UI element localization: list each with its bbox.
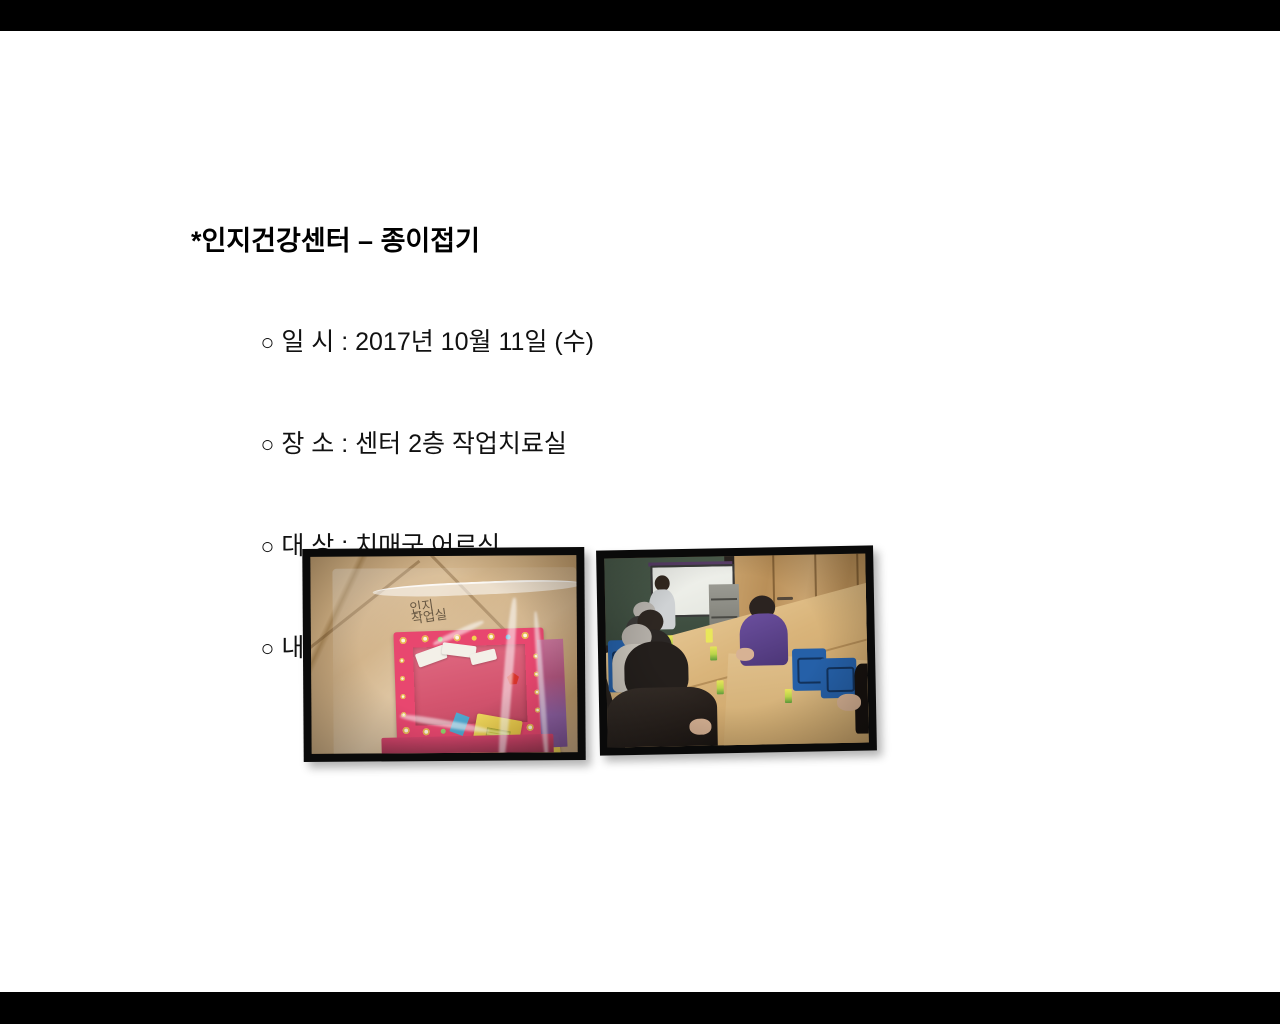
- slide-canvas: *인지건강센터 – 종이접기 ○ 일 시 : 2017년 10월 11일 (수)…: [0, 31, 1280, 992]
- glue-stick: [717, 680, 724, 694]
- stacked-frames-below: [381, 734, 554, 754]
- slide-root: *인지건강센터 – 종이접기 ○ 일 시 : 2017년 10월 11일 (수)…: [0, 0, 1280, 1024]
- page-title: *인지건강센터 – 종이접기: [191, 226, 1011, 257]
- therapy-room-session-photo: [596, 545, 877, 755]
- flower-dot: [527, 724, 534, 731]
- flower-dot: [400, 694, 405, 699]
- flower-dot: [400, 676, 405, 681]
- flower-dot: [403, 727, 410, 734]
- flower-dot: [399, 658, 404, 663]
- flower-dot: [423, 728, 430, 735]
- hand: [736, 648, 754, 661]
- flower-dot: [422, 635, 429, 642]
- origami-sunflower-frame-photo: 인지작업실: [302, 547, 585, 762]
- list-item: ○ 장 소 : 센터 2층 작업치료실: [191, 393, 1011, 495]
- hand: [689, 718, 711, 734]
- handwritten-label: 인지작업실: [409, 597, 460, 630]
- flower-dot: [488, 633, 495, 640]
- bullet-circle-icon: ○: [260, 635, 274, 661]
- blue-chair: [820, 658, 857, 699]
- bullet-circle-icon: ○: [260, 431, 274, 457]
- info-value-place: 센터 2층 작업치료실: [355, 430, 567, 458]
- hand: [837, 694, 861, 711]
- plastic-bag: 인지작업실: [332, 567, 577, 754]
- letterbox-bottom: [0, 992, 1280, 1024]
- bullet-circle-icon: ○: [260, 533, 274, 559]
- info-value-date: 2017년 10월 11일 (수): [355, 328, 594, 356]
- glue-stick: [710, 646, 717, 660]
- photo-image-area: [604, 554, 869, 748]
- list-item: ○ 일 시 : 2017년 10월 11일 (수): [191, 291, 1011, 393]
- flower-dot: [521, 632, 528, 639]
- info-separator: :: [334, 328, 355, 356]
- senior-body-foreground: [607, 686, 719, 747]
- supply-box: [706, 628, 713, 642]
- info-separator: :: [334, 430, 355, 458]
- flower-dot: [441, 729, 446, 734]
- info-label-date: 일 시: [281, 328, 334, 356]
- letterbox-top: [0, 0, 1280, 31]
- cabinet-handle: [777, 597, 793, 600]
- photo-image-area: 인지작업실: [310, 555, 577, 754]
- bullet-circle-icon: ○: [260, 329, 274, 355]
- info-label-place: 장 소: [281, 430, 334, 458]
- shelf-row: [711, 598, 737, 600]
- glue-stick: [785, 689, 792, 703]
- flower-dot: [400, 637, 407, 644]
- bag-zipper: [372, 577, 577, 599]
- flower-dot: [472, 636, 477, 641]
